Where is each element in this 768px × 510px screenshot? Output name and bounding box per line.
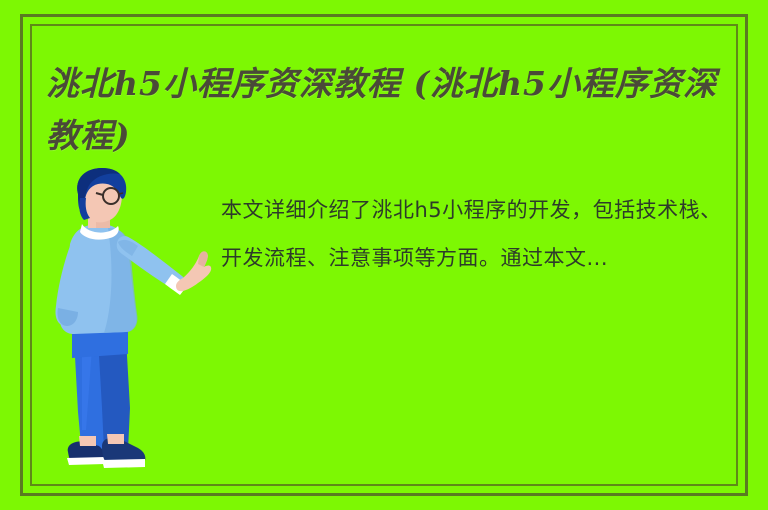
- article-summary: 本文详细介绍了洮北h5小程序的开发，包括技术栈、开发流程、注意事项等方面。通过本…: [221, 186, 731, 282]
- page-title: 洮北h5小程序资深教程 (洮北h5小程序资深教程): [46, 58, 726, 162]
- pointing-hand: [176, 251, 211, 291]
- sweater-group: [55, 224, 187, 334]
- article-card: 洮北h5小程序资深教程 (洮北h5小程序资深教程) 本文详细介绍了洮北h5小程序…: [0, 0, 768, 510]
- head-group: [77, 168, 126, 222]
- man-pointing-illustration: [52, 168, 222, 480]
- illustration-svg: [52, 168, 222, 480]
